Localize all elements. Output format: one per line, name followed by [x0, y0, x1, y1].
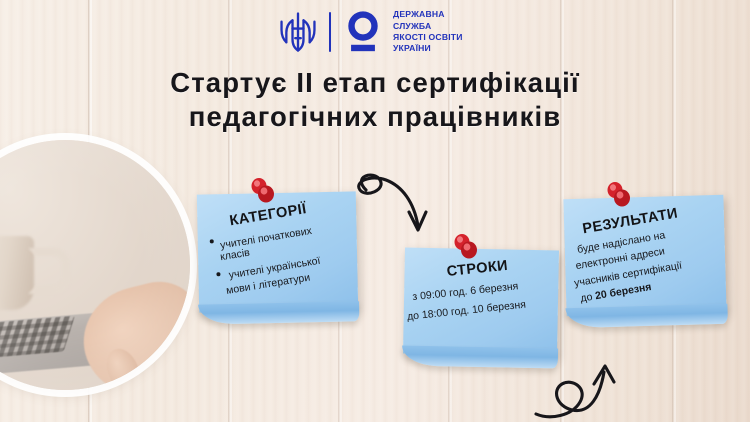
logo-text-line-1: ДЕРЖАВНА [393, 9, 463, 20]
logo-divider [329, 12, 331, 52]
page-title: Стартує ІІ етап сертифікації педагогічни… [0, 66, 750, 133]
logo-text: ДЕРЖАВНА СЛУЖБА ЯКОСТІ ОСВІТИ УКРАЇНИ [393, 9, 463, 54]
curly-arrow-down-right-icon [330, 168, 440, 258]
page-title-line-2: педагогічних працівників [0, 100, 750, 134]
dsyao-circle-mark-icon [343, 9, 383, 55]
red-pushpin-icon [604, 180, 634, 214]
logo-text-line-4: УКРАЇНИ [393, 43, 463, 54]
logo-text-line-2: СЛУЖБА [393, 21, 463, 32]
note-deadlines-line-1: з 09:00 год. 6 березня [412, 280, 519, 303]
curly-arrow-up-right-icon [528, 322, 658, 422]
bullet-icon [216, 272, 220, 276]
bullet-icon [210, 239, 214, 243]
note-deadlines-line-2: до 18:00 год. 10 березня [407, 299, 527, 323]
red-pushpin-icon [248, 176, 278, 210]
note-results: РЕЗУЛЬТАТИ буде надіслано на електронні … [563, 195, 726, 316]
photo-vignette [0, 140, 190, 390]
laptop-photo [0, 140, 190, 390]
red-pushpin-icon [451, 232, 481, 266]
infographic-poster: ДЕРЖАВНА СЛУЖБА ЯКОСТІ ОСВІТИ УКРАЇНИ Ст… [0, 0, 750, 422]
note-results-body: РЕЗУЛЬТАТИ буде надіслано на електронні … [563, 195, 726, 316]
page-title-line-1: Стартує ІІ етап сертифікації [0, 66, 750, 100]
ukraine-trident-icon [277, 8, 319, 56]
logo-text-line-3: ЯКОСТІ ОСВІТИ [393, 32, 463, 43]
organization-logo: ДЕРЖАВНА СЛУЖБА ЯКОСТІ ОСВІТИ УКРАЇНИ [277, 8, 463, 56]
